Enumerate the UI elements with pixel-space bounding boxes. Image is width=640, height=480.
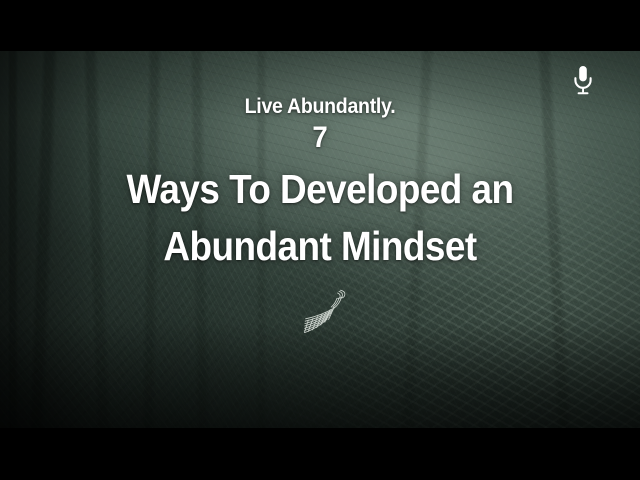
title-block: Live Abundantly. 7 Ways To Developed an … xyxy=(0,96,640,267)
kicker-text: Live Abundantly. xyxy=(22,96,617,117)
letterbox-bar-bottom xyxy=(0,428,640,480)
title-line-2: Abundant Mindset xyxy=(32,226,608,267)
phoenix-bird-logo-icon xyxy=(296,287,354,339)
microphone-icon xyxy=(570,64,596,97)
title-line-1: Ways To Developed an xyxy=(32,169,608,210)
video-frame: Live Abundantly. 7 Ways To Developed an … xyxy=(0,0,640,480)
letterbox-bar-top xyxy=(0,0,640,51)
list-count-number: 7 xyxy=(26,123,615,153)
